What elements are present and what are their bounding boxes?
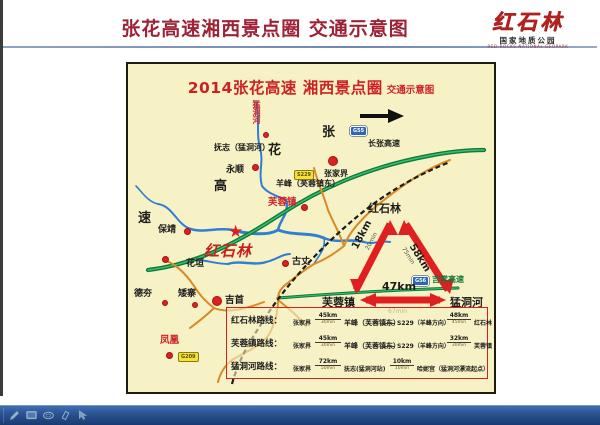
expressway-char-hua: 花 (268, 144, 281, 157)
label-guzhang: 古丈 (292, 258, 310, 267)
route-leg-time: 30min (315, 343, 341, 349)
route-connector (383, 323, 395, 324)
label-yangfeng: 羊峰（芙蓉镇东） (276, 180, 340, 188)
route-leg: 48km 45min (447, 312, 471, 326)
route-stop: 张家界 (293, 318, 311, 327)
label-furongzhen-map: 芙蓉镇 (268, 198, 297, 208)
pointer-icon[interactable] (76, 409, 89, 422)
route-row: 芙蓉镇路线： 张家界 45km 30min 羊峰（芙蓉镇东） S229（羊峰方向… (231, 335, 485, 353)
label-fenghuang: 凤凰 (160, 336, 179, 346)
pen-icon[interactable] (8, 409, 21, 422)
city-dot-fuzhi (263, 132, 269, 138)
route-leg-time: 30min (315, 320, 341, 326)
city-dot-fenghuang (166, 352, 173, 359)
route-name: 芙蓉镇路线： (231, 337, 282, 349)
label-zhangjiajie: 张家界 (324, 170, 348, 178)
route-leg-time: 30min (447, 343, 471, 349)
label-changzhang-expressway: 长张高速 (368, 140, 400, 148)
route-row: 猛洞河路线： 张家界 72km 50min 抚志(猛洞河站) 10km 10mi… (231, 358, 485, 376)
route-stop: 哈妮宫（猛洞河漂流起点） (417, 364, 489, 373)
label-baojing: 保靖 (158, 226, 176, 235)
bottom-toolbar[interactable] (0, 405, 600, 425)
slide-header: 张花高速湘西景点圈 交通示意图 红石林 国家地质公园 RED ROCKS NAT… (0, 0, 600, 52)
route-leg: 72km 50min (315, 358, 341, 372)
label-fuzhi: 抚志（猛洞河） (214, 144, 270, 152)
label-mengdonghe-river: 猛洞河 (252, 100, 260, 124)
label-yongshun: 永顺 (226, 166, 244, 175)
city-dot-yongshun (252, 164, 259, 171)
route-leg: 32km 30min (447, 335, 471, 349)
city-dot-huayuan (162, 256, 169, 263)
route-leg: 10km 10min (390, 358, 414, 372)
route-stop: 抚志(猛洞河站) (344, 364, 386, 373)
route-name: 猛洞河路线： (231, 360, 282, 372)
city-dot-dehang (162, 300, 168, 306)
route-leg-time: 50min (315, 366, 341, 372)
route-leg-distance: 45km (315, 312, 341, 319)
logo-english-subtitle: RED ROCKS NATIONAL GEOPARK (472, 44, 584, 49)
route-name: 红石林路线： (231, 314, 282, 326)
direction-arrow (360, 109, 404, 123)
route-stop: S229（羊峰方向） (397, 318, 450, 327)
expressway-char-gao: 高 (214, 180, 227, 193)
label-jishou: 吉首 (225, 296, 244, 306)
slide-screen: 张花高速湘西景点圈 交通示意图 红石林 国家地质公园 RED ROCKS NAT… (0, 0, 600, 424)
route-leg-time: 10min (390, 366, 414, 372)
route-leg: 45km 30min (315, 312, 341, 326)
left-frame-edge (0, 0, 3, 396)
route-stop: 芙蓉镇 (474, 341, 492, 350)
logo-calligraphy-text: 红石林 (472, 8, 584, 36)
toolbar-divider (3, 408, 4, 423)
triangle-edge-bottom-distance: 47km (382, 280, 416, 293)
map-canvas: 2014张花高速 湘西景点圈交通示意图 (128, 64, 494, 392)
label-jichang-expressway: 吉常高速 (432, 276, 464, 284)
route-leg-distance: 32km (447, 335, 471, 342)
geopark-logo: 红石林 国家地质公园 RED ROCKS NATIONAL GEOPARK (472, 8, 584, 54)
screen-icon[interactable] (25, 409, 38, 422)
hongshilin-calligraphy: 红石林 (204, 240, 252, 261)
page-title: 张花高速湘西景点圈 交通示意图 (90, 14, 440, 41)
route-leg-time: 45min (447, 320, 471, 326)
route-leg-distance: 72km (315, 358, 341, 365)
hongshilin-star-marker: ★ (228, 224, 243, 241)
shield-g209: G209 (178, 352, 199, 362)
expressway-char-su: 速 (138, 212, 151, 225)
route-legend-box: 红石林路线： 张家界 45km 30min 羊峰（芙蓉镇东） S229（羊峰方向… (226, 307, 488, 379)
arrowhead-bottom-right (430, 293, 446, 307)
arrowhead-bottom-left (360, 293, 376, 307)
city-dot-zhangjiajie (328, 156, 338, 166)
route-leg-distance: 48km (447, 312, 471, 319)
label-dehang: 德夯 (134, 290, 152, 299)
route-row: 红石林路线： 张家界 45km 30min 羊峰（芙蓉镇东） S229（羊峰方向… (231, 312, 485, 330)
city-dot-baojing (184, 228, 191, 235)
triangle-node-top: 红石林 (368, 200, 401, 216)
route-leg: 45km 30min (315, 335, 341, 349)
expressway-char-zhang: 张 (322, 126, 335, 139)
route-stop: 红石林 (474, 318, 492, 327)
city-dot-aizhai (192, 302, 198, 308)
city-dot-jishou (212, 296, 222, 306)
shield-s229: S229 (294, 170, 314, 180)
shield-g55: G55 (350, 126, 367, 136)
route-connector (383, 346, 395, 347)
route-leg-distance: 45km (315, 335, 341, 342)
city-dot-furongzhen (301, 204, 308, 211)
eraser-icon[interactable] (42, 409, 55, 422)
route-stop: 张家界 (293, 341, 311, 350)
map-panel: 2014张花高速 湘西景点圈交通示意图 (126, 62, 496, 394)
city-dot-guzhang (282, 260, 289, 267)
label-huayuan: 花垣 (186, 260, 204, 269)
route-leg-distance: 10km (390, 358, 414, 365)
highlighter-icon[interactable] (59, 409, 72, 422)
route-stop: 张家界 (293, 364, 311, 373)
route-stop: S229（羊峰方向） (397, 341, 450, 350)
label-aizhai: 矮寨 (178, 290, 196, 299)
